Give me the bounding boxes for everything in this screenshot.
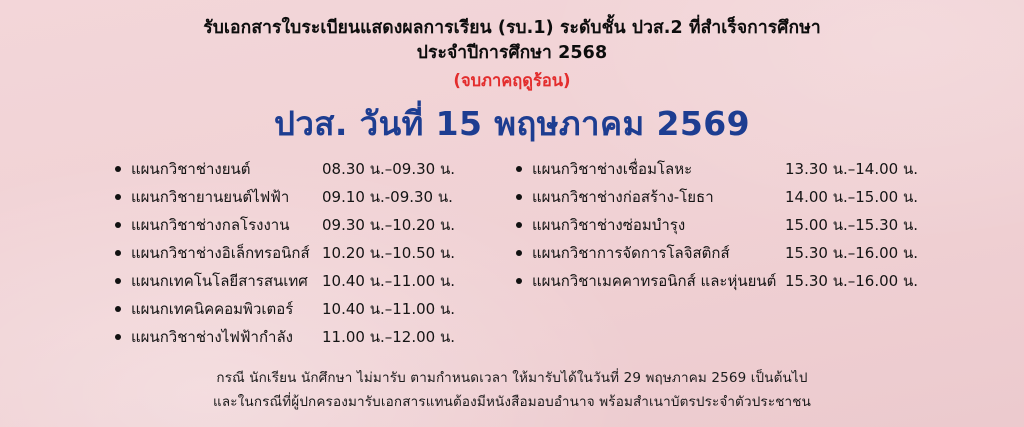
heading-line-1: รับเอกสารใบระเบียนแสดงผลการเรียน (รบ.1) … xyxy=(0,16,1024,41)
footer-line-1: กรณี นักเรียน นักศึกษา ไม่มารับ ตามกำหนด… xyxy=(0,366,1024,390)
department-name: แผนกวิชาช่างไฟฟ้ากำลัง xyxy=(112,323,293,351)
department-time: 13.30 น.–14.00 น. xyxy=(785,155,918,183)
department-name: แผนกวิชาช่างซ่อมบำรุง xyxy=(513,211,685,239)
department-time: 11.00 น.–12.00 น. xyxy=(322,323,455,351)
schedule-row: แผนกวิชาช่างเชื่อมโลหะ 13.30 น.–14.00 น. xyxy=(513,155,913,183)
department-name: แผนกเทคโนโลยีสารสนเทศ xyxy=(112,267,308,295)
schedule-row: แผนกวิชาช่างอิเล็กทรอนิกส์ 10.20 น.–10.5… xyxy=(112,239,472,267)
schedule-section: แผนกวิชาช่างยนต์ 08.30 น.–09.30 น. แผนกว… xyxy=(0,155,1024,350)
schedule-row: แผนกเทคโนโลยีสารสนเทศ 10.40 น.–11.00 น. xyxy=(112,267,472,295)
department-time: 09.30 น.–10.20 น. xyxy=(322,211,455,239)
schedule-row: แผนกวิชาการจัดการโลจิสติกส์ 15.30 น.–16.… xyxy=(513,239,913,267)
department-name: แผนกวิชาช่างยนต์ xyxy=(112,155,251,183)
schedule-column-right: แผนกวิชาช่างเชื่อมโลหะ 13.30 น.–14.00 น.… xyxy=(513,155,913,295)
bullet-icon xyxy=(115,250,121,256)
date-banner: ปวส. วันที่ 15 พฤษภาคม 2569 xyxy=(0,104,1024,144)
department-time: 09.10 น.-09.30 น. xyxy=(322,183,453,211)
department-name: แผนกวิชาช่างก่อสร้าง-โยธา xyxy=(513,183,714,211)
poster-footer: กรณี นักเรียน นักศึกษา ไม่มารับ ตามกำหนด… xyxy=(0,366,1024,414)
schedule-column-left: แผนกวิชาช่างยนต์ 08.30 น.–09.30 น. แผนกว… xyxy=(112,155,472,351)
schedule-row: แผนกวิชาช่างไฟฟ้ากำลัง 11.00 น.–12.00 น. xyxy=(112,323,472,351)
department-name: แผนกวิชาช่างกลโรงงาน xyxy=(112,211,289,239)
bullet-icon xyxy=(115,334,121,340)
schedule-row: แผนกวิชายานยนต์ไฟฟ้า 09.10 น.-09.30 น. xyxy=(112,183,472,211)
bullet-icon xyxy=(115,194,121,200)
department-time: 10.20 น.–10.50 น. xyxy=(322,239,455,267)
bullet-icon xyxy=(516,222,522,228)
department-name: แผนกวิชาการจัดการโลจิสติกส์ xyxy=(513,239,730,267)
schedule-row: แผนกวิชาช่างซ่อมบำรุง 15.00 น.–15.30 น. xyxy=(513,211,913,239)
department-time: 14.00 น.–15.00 น. xyxy=(785,183,918,211)
department-time: 15.30 น.–16.00 น. xyxy=(785,267,918,295)
schedule-row: แผนกวิชาช่างก่อสร้าง-โยธา 14.00 น.–15.00… xyxy=(513,183,913,211)
department-time: 10.40 น.–11.00 น. xyxy=(322,267,455,295)
department-name: แผนกวิชายานยนต์ไฟฟ้า xyxy=(112,183,289,211)
department-time: 15.30 น.–16.00 น. xyxy=(785,239,918,267)
department-time: 08.30 น.–09.30 น. xyxy=(322,155,455,183)
announcement-poster: รับเอกสารใบระเบียนแสดงผลการเรียน (รบ.1) … xyxy=(0,0,1024,427)
department-name: แผนกวิชาช่างอิเล็กทรอนิกส์ xyxy=(112,239,310,267)
bullet-icon xyxy=(516,166,522,172)
department-time: 10.40 น.–11.00 น. xyxy=(322,295,455,323)
bullet-icon xyxy=(115,306,121,312)
department-name: แผนกเทคนิคคอมพิวเตอร์ xyxy=(112,295,293,323)
bullet-icon xyxy=(115,222,121,228)
heading-note: (จบภาคฤดูร้อน) xyxy=(0,68,1024,93)
schedule-row: แผนกวิชาเมคคาทรอนิกส์ และหุ่นยนต์ 15.30 … xyxy=(513,267,913,295)
bullet-icon xyxy=(516,250,522,256)
bullet-icon xyxy=(115,166,121,172)
footer-line-2: และในกรณีที่ผู้ปกครองมารับเอกสารแทนต้องม… xyxy=(0,390,1024,414)
bullet-icon xyxy=(115,278,121,284)
bullet-icon xyxy=(516,194,522,200)
department-name: แผนกวิชาช่างเชื่อมโลหะ xyxy=(513,155,692,183)
schedule-row: แผนกวิชาช่างกลโรงงาน 09.30 น.–10.20 น. xyxy=(112,211,472,239)
heading-line-2: ประจำปีการศึกษา 2568 xyxy=(0,41,1024,66)
schedule-row: แผนกวิชาช่างยนต์ 08.30 น.–09.30 น. xyxy=(112,155,472,183)
poster-heading: รับเอกสารใบระเบียนแสดงผลการเรียน (รบ.1) … xyxy=(0,16,1024,93)
department-name: แผนกวิชาเมคคาทรอนิกส์ และหุ่นยนต์ xyxy=(513,267,776,295)
bullet-icon xyxy=(516,278,522,284)
schedule-row: แผนกเทคนิคคอมพิวเตอร์ 10.40 น.–11.00 น. xyxy=(112,295,472,323)
department-time: 15.00 น.–15.30 น. xyxy=(785,211,918,239)
